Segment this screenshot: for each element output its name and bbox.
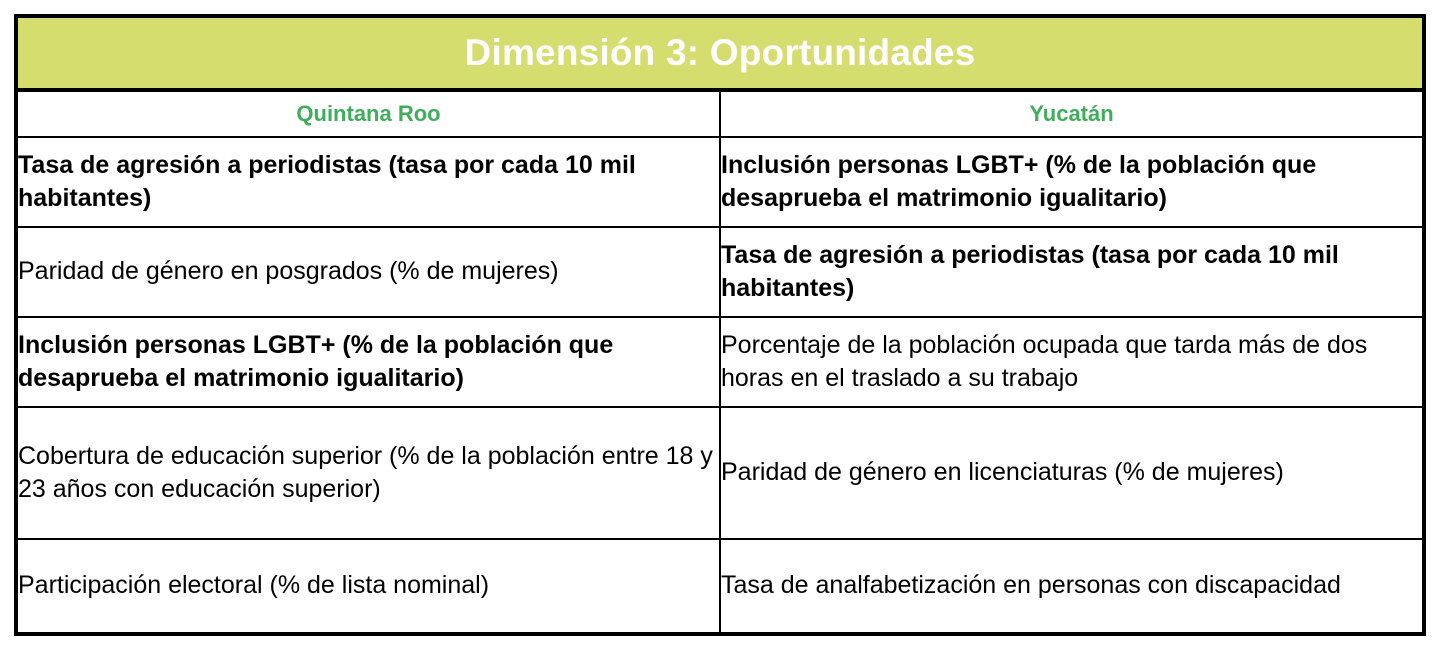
table-title-cell: Dimensión 3: Oportunidades (16, 16, 1424, 90)
column-header-quintana-roo: Quintana Roo (16, 90, 720, 137)
table-row: Inclusión personas LGBT+ (% de la poblac… (16, 317, 1424, 407)
indicator-cell-left: Paridad de género en posgrados (% de muj… (16, 227, 720, 317)
column-header-label: Yucatán (721, 102, 1422, 126)
table-row: Paridad de género en posgrados (% de muj… (16, 227, 1424, 317)
table-row: Cobertura de educación superior (% de la… (16, 407, 1424, 539)
indicator-cell-left: Inclusión personas LGBT+ (% de la poblac… (16, 317, 720, 407)
indicator-cell-right: Porcentaje de la población ocupada que t… (720, 317, 1424, 407)
indicator-label: Tasa de analfabetización en personas con… (721, 569, 1422, 602)
indicator-cell-left: Cobertura de educación superior (% de la… (16, 407, 720, 539)
indicator-label: Paridad de género en posgrados (% de muj… (18, 255, 719, 288)
indicator-cell-left: Tasa de agresión a periodistas (tasa por… (16, 137, 720, 227)
column-header-label: Quintana Roo (18, 102, 719, 126)
indicator-cell-right: Paridad de género en licenciaturas (% de… (720, 407, 1424, 539)
indicator-cell-right: Inclusión personas LGBT+ (% de la poblac… (720, 137, 1424, 227)
column-header-yucatan: Yucatán (720, 90, 1424, 137)
dimension-comparison-table: Dimensión 3: Oportunidades Quintana Roo … (14, 14, 1426, 636)
table-row: Tasa de agresión a periodistas (tasa por… (16, 137, 1424, 227)
table-row: Participación electoral (% de lista nomi… (16, 539, 1424, 634)
indicator-label: Porcentaje de la población ocupada que t… (721, 329, 1422, 396)
indicator-cell-left: Participación electoral (% de lista nomi… (16, 539, 720, 634)
table-column-header-row: Quintana Roo Yucatán (16, 90, 1424, 137)
indicator-label: Tasa de agresión a periodistas (tasa por… (18, 149, 719, 216)
table-title-row: Dimensión 3: Oportunidades (16, 16, 1424, 90)
page-title: Dimensión 3: Oportunidades (18, 34, 1422, 73)
indicator-cell-right: Tasa de analfabetización en personas con… (720, 539, 1424, 634)
indicator-label: Paridad de género en licenciaturas (% de… (721, 456, 1422, 489)
indicator-label: Inclusión personas LGBT+ (% de la poblac… (721, 149, 1422, 216)
indicator-label: Inclusión personas LGBT+ (% de la poblac… (18, 329, 719, 396)
indicator-label: Tasa de agresión a periodistas (tasa por… (721, 239, 1422, 306)
indicator-cell-right: Tasa de agresión a periodistas (tasa por… (720, 227, 1424, 317)
indicator-label: Cobertura de educación superior (% de la… (18, 440, 719, 507)
indicator-label: Participación electoral (% de lista nomi… (18, 569, 719, 602)
page-root: Dimensión 3: Oportunidades Quintana Roo … (0, 0, 1438, 670)
